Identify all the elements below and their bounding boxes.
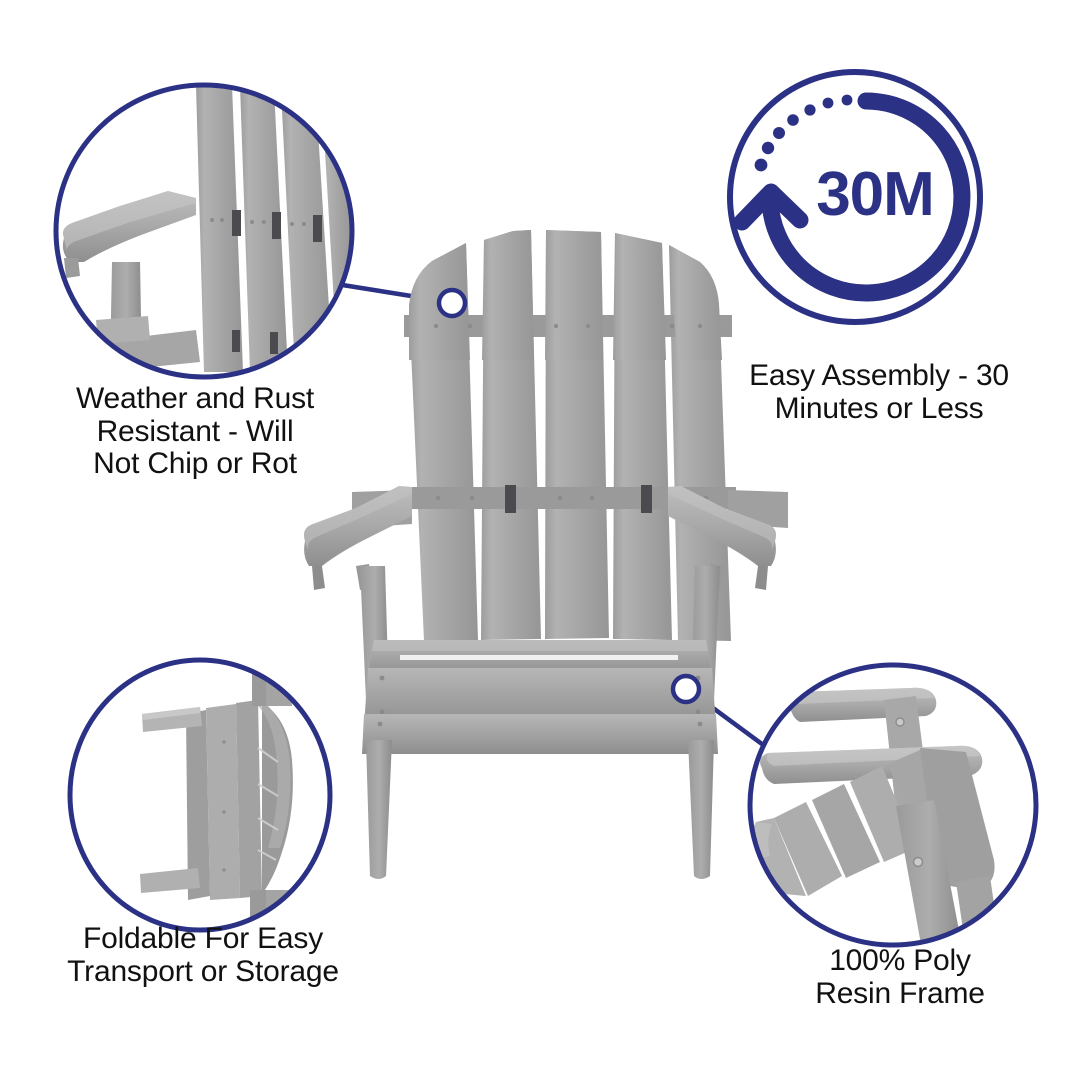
callout-dot-resin xyxy=(673,676,699,702)
feature-caption-weather: Weather and Rust Resistant - Will Not Ch… xyxy=(0,383,390,481)
infographic-canvas: 30M xyxy=(0,0,1080,1080)
inset-weather-rust xyxy=(56,85,352,377)
main-product-image-adirondack-chair xyxy=(304,230,788,879)
chair-lower-stretcher xyxy=(362,714,718,754)
inset-foldable xyxy=(70,660,330,932)
clock-badge-label: 30M xyxy=(816,160,934,229)
callout-dot-weather xyxy=(439,290,465,316)
chair-rear-legs xyxy=(366,740,714,879)
clock-arrow-30m-icon: 30M xyxy=(730,72,980,322)
feature-caption-assembly: Easy Assembly - 30 Minutes or Less xyxy=(684,360,1074,425)
feature-caption-foldable: Foldable For Easy Transport or Storage xyxy=(6,923,400,988)
inset-resin-frame xyxy=(750,665,1040,950)
feature-caption-resin: 100% Poly Resin Frame xyxy=(750,945,1050,1010)
